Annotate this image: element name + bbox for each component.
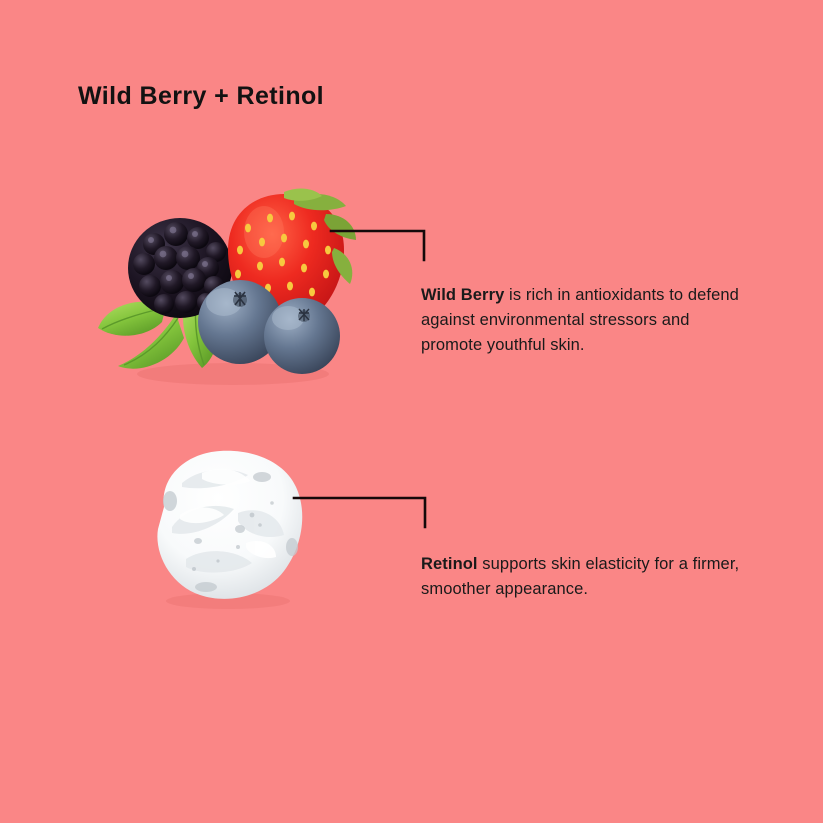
page-title: Wild Berry + Retinol [78, 82, 324, 111]
callout-text-retinol: Retinol supports skin elasticity for a f… [421, 552, 746, 602]
callout-text-wild-berry: Wild Berry is rich in antioxidants to de… [421, 283, 746, 358]
berry-cluster-image [88, 188, 363, 388]
elbow-connector-berry [330, 222, 440, 272]
cream-dollop-image [142, 443, 314, 611]
callout-lead-wild-berry: Wild Berry [421, 286, 504, 304]
infographic-canvas: Wild Berry + Retinol [0, 0, 823, 823]
elbow-connector-retinol [293, 489, 441, 539]
callout-lead-retinol: Retinol [421, 555, 478, 573]
blueberry-right [264, 298, 340, 374]
